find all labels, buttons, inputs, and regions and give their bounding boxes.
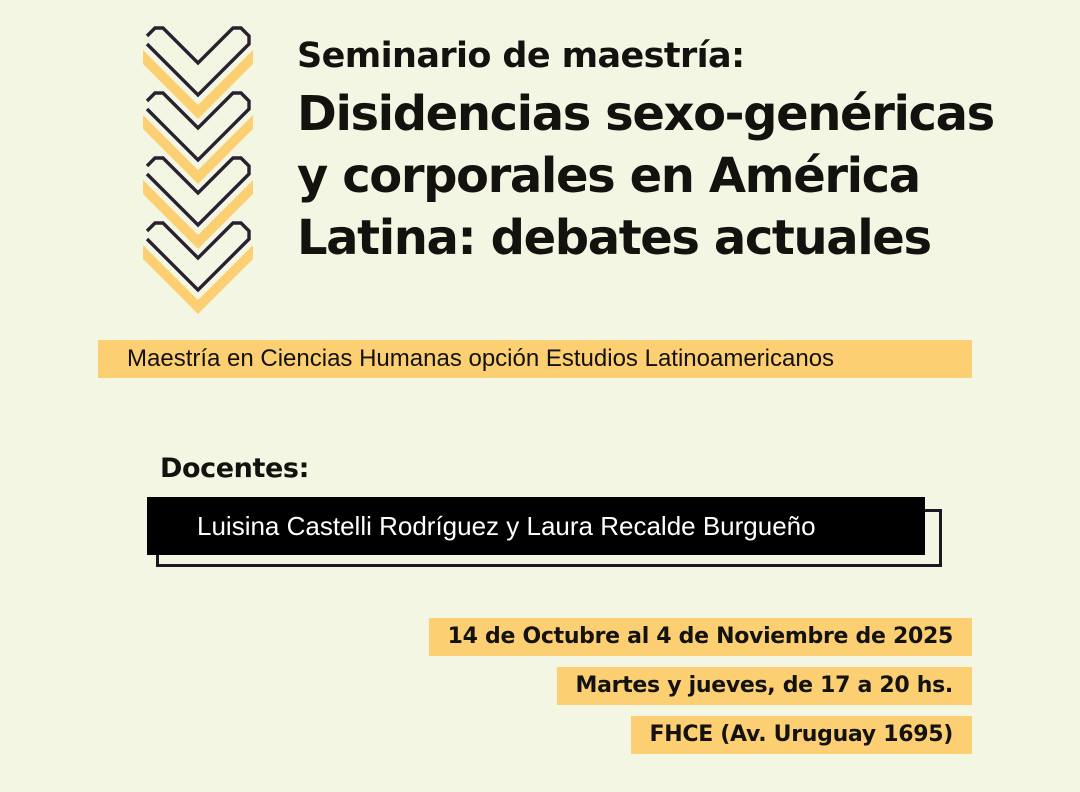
detail-venue-label: FHCE (Av. Uruguay 1695) xyxy=(650,722,953,748)
details-list: 14 de Octubre al 4 de Noviembre de 2025 … xyxy=(429,618,972,754)
poster-canvas: Seminario de maestría: Disidencias sexo-… xyxy=(0,0,1080,792)
title-line-1: Disidencias sexo-genéricas xyxy=(297,83,997,145)
title-line-2: y corporales en América xyxy=(297,145,997,207)
page-title: Seminario de maestría: Disidencias sexo-… xyxy=(297,34,997,269)
detail-bar-venue: FHCE (Av. Uruguay 1695) xyxy=(631,716,972,754)
chevron-down-icon xyxy=(143,217,253,307)
title-line-3: Latina: debates actuales xyxy=(297,207,997,269)
chevron-decoration-stack xyxy=(143,22,253,292)
programme-bar: Maestría en Ciencias Humanas opción Estu… xyxy=(98,340,972,378)
teachers-label: Docentes: xyxy=(160,452,309,486)
teachers-names: Luisina Castelli Rodríguez y Laura Recal… xyxy=(147,511,816,541)
teachers-name-box: Luisina Castelli Rodríguez y Laura Recal… xyxy=(147,497,925,555)
title-kicker: Seminario de maestría: xyxy=(297,34,997,78)
detail-bar-dates: 14 de Octubre al 4 de Noviembre de 2025 xyxy=(429,618,972,656)
programme-bar-label: Maestría en Ciencias Humanas opción Estu… xyxy=(98,345,834,373)
detail-schedule-label: Martes y jueves, de 17 a 20 hs. xyxy=(576,673,953,699)
detail-dates-label: 14 de Octubre al 4 de Noviembre de 2025 xyxy=(448,624,953,650)
teachers-block: Luisina Castelli Rodríguez y Laura Recal… xyxy=(147,497,947,569)
detail-bar-schedule: Martes y jueves, de 17 a 20 hs. xyxy=(557,667,972,705)
